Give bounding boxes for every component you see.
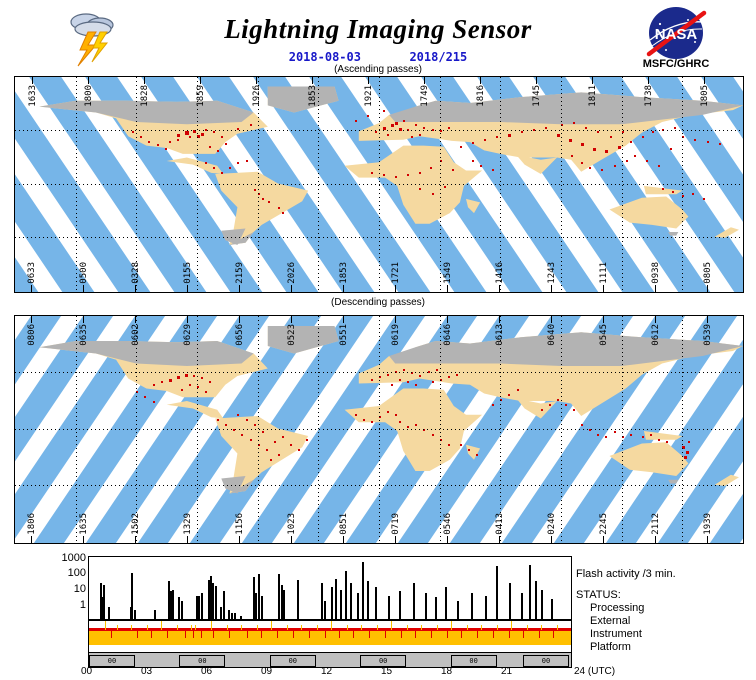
- lightning-flash: [355, 414, 357, 416]
- orbit-tick-top: [256, 77, 257, 84]
- time-axis-tick-06: 06: [201, 666, 212, 677]
- orbit-time-label-top: 1816: [476, 85, 486, 107]
- status-red-tick: [229, 631, 230, 638]
- lightning-flash: [480, 165, 482, 167]
- longitude-gridline: [500, 77, 501, 292]
- lightning-flash: [719, 143, 721, 145]
- lightning-flash: [672, 191, 674, 193]
- agency-caption: MSFC/GHRC: [624, 58, 728, 70]
- status-red-tick: [493, 631, 494, 638]
- y-tick-1: 1: [80, 599, 86, 611]
- orbit-time-label-top: 0523: [287, 324, 297, 346]
- orbit-time-label-bottom: 2245: [599, 513, 609, 535]
- longitude-gridline: [500, 316, 501, 543]
- descending-passes-label: (Descending passes): [0, 297, 756, 308]
- orbit-time-label-bottom: 0328: [131, 262, 141, 284]
- status-red-tick: [201, 631, 202, 638]
- status-yellow-tick: [347, 625, 348, 630]
- flash-activity-bar: [388, 596, 390, 620]
- lightning-flash: [662, 188, 664, 190]
- lightning-flash: [237, 162, 239, 164]
- lightning-flash: [282, 436, 284, 438]
- lightning-flash: [193, 375, 195, 377]
- lightning-flash: [169, 379, 172, 382]
- status-red-tick: [193, 631, 194, 638]
- lightning-flash: [157, 144, 159, 146]
- flash-activity-bar: [103, 585, 105, 619]
- status-red-tick: [461, 631, 462, 638]
- flash-activity-bar: [240, 616, 242, 620]
- flash-activity-bar: [172, 590, 174, 620]
- time-axis-tick-21: 21: [501, 666, 512, 677]
- lightning-flash: [597, 434, 599, 436]
- orbit-tick-top: [83, 316, 84, 323]
- lightning-flash: [367, 115, 369, 117]
- orbit-time-label-top: 1853: [308, 85, 318, 107]
- orbit-time-label-top: 0539: [703, 324, 713, 346]
- lightning-flash: [634, 155, 636, 157]
- orbit-tick-top: [200, 77, 201, 84]
- orbit-tick-bottom: [343, 536, 344, 543]
- lightning-flash: [581, 424, 583, 426]
- lightning-flash: [181, 389, 183, 391]
- flash-activity-bar: [220, 607, 222, 619]
- lightning-flash: [399, 421, 401, 423]
- longitude-gridline: [379, 77, 380, 292]
- lightning-flash: [209, 381, 211, 383]
- lightning-flash: [407, 381, 409, 383]
- orbit-tick-bottom: [291, 536, 292, 543]
- status-yellow-tick: [557, 625, 558, 630]
- lightning-flash: [254, 424, 256, 426]
- lightning-flash: [605, 150, 608, 153]
- status-red-tick: [325, 631, 326, 638]
- status-yellow-tick: [511, 621, 512, 630]
- lightning-flash: [614, 165, 616, 167]
- lightning-flash: [262, 431, 264, 433]
- status-red-tick: [137, 631, 138, 638]
- flash-activity-bar: [198, 596, 200, 619]
- lightning-flash: [201, 377, 203, 379]
- lightning-flash: [246, 160, 248, 162]
- lightning-flash: [177, 134, 180, 137]
- lightning-flash: [415, 124, 417, 126]
- lightning-flash: [399, 379, 401, 381]
- page-header: Lightning Imaging Sensor 2018-08-03 2018…: [0, 0, 756, 76]
- flash-activity-bar: [331, 587, 333, 619]
- lightning-flash: [448, 444, 450, 446]
- lightning-flash: [496, 136, 498, 138]
- status-red-tick: [261, 631, 262, 638]
- lightning-flash: [185, 131, 189, 135]
- orbit-time-label-top: 0640: [547, 324, 557, 346]
- lightning-flash: [642, 436, 644, 438]
- time-axis-tick-09: 09: [261, 666, 272, 677]
- flash-activity-bar: [261, 596, 263, 620]
- lightning-flash: [565, 404, 567, 406]
- status-red-tick: [431, 631, 432, 638]
- status-yellow-tick: [105, 621, 106, 630]
- orbit-time-label-bottom: 1549: [443, 262, 453, 284]
- status-red-tick: [151, 631, 152, 638]
- status-yellow-tick: [361, 625, 362, 630]
- time-x-axis: 0003060912151821: [88, 666, 570, 680]
- flash-activity-bar: [529, 565, 531, 619]
- orbit-time-label-top: 0551: [339, 324, 349, 346]
- lightning-flash: [161, 381, 163, 383]
- orbit-time-label-bottom: 1156: [235, 513, 245, 535]
- lightning-flash: [569, 139, 572, 142]
- flash-activity-bar: [521, 593, 523, 619]
- orbit-tick-bottom: [603, 536, 604, 543]
- lightning-flash: [444, 186, 446, 188]
- orbit-tick-top: [447, 316, 448, 323]
- ascending-passes-map[interactable]: 1633180018281859192618531921174918161745…: [14, 76, 744, 293]
- lightning-flash: [674, 127, 676, 129]
- lightning-flash: [371, 421, 373, 423]
- orbit-tick-top: [88, 77, 89, 84]
- orbit-tick-top: [32, 77, 33, 84]
- status-red-tick: [247, 631, 248, 638]
- lightning-flash: [419, 172, 421, 174]
- lightning-flash: [666, 441, 668, 443]
- orbit-time-label-bottom: 2112: [651, 513, 661, 535]
- lightning-flash: [225, 424, 227, 426]
- lightning-flash: [618, 146, 621, 149]
- lightning-flash: [601, 169, 603, 171]
- lightning-flash: [430, 167, 432, 169]
- lightning-flash: [589, 167, 591, 169]
- lightning-flash: [650, 434, 652, 436]
- orbit-tick-top: [187, 316, 188, 323]
- lightning-flash: [614, 431, 616, 433]
- flash-activity-bar: [297, 580, 299, 619]
- lightning-flash: [298, 449, 300, 451]
- lightning-flash: [597, 131, 599, 133]
- y-tick-10: 10: [74, 583, 86, 595]
- orbit-time-label-bottom: 1939: [703, 513, 713, 535]
- flash-activity-bar: [223, 591, 225, 619]
- status-yellow-tick: [131, 625, 132, 630]
- flash-activity-bar: [201, 593, 203, 619]
- orbit-tick-top: [704, 77, 705, 84]
- status-red-tick: [553, 631, 554, 638]
- orbit-time-label-top: 0806: [27, 324, 37, 346]
- flash-activity-bar: [231, 613, 233, 619]
- lightning-flash: [391, 384, 393, 386]
- lightning-flash: [684, 456, 687, 459]
- lightning-flash: [692, 193, 694, 195]
- orbit-time-label-top: 0629: [183, 324, 193, 346]
- orbit-time-label-bottom: 1329: [183, 513, 193, 535]
- flash-activity-bar: [215, 586, 217, 619]
- orbit-tick-top: [536, 77, 537, 84]
- status-yellow-tick: [177, 625, 178, 630]
- lightning-flash: [557, 399, 559, 401]
- status-red-tick: [523, 631, 524, 638]
- flash-y-axis: 1000 100 10 1: [52, 552, 86, 622]
- orbit-time-label-top: 1749: [420, 85, 430, 107]
- lightning-flash: [391, 124, 394, 127]
- status-yellow-tick: [301, 625, 302, 630]
- orbit-time-label-top: 1805: [700, 85, 710, 107]
- flash-activity-bar: [435, 597, 437, 619]
- status-heading: STATUS:: [576, 589, 676, 602]
- orbit-time-label-bottom: 1243: [547, 262, 557, 284]
- lightning-flash: [177, 139, 179, 141]
- lightning-flash: [205, 162, 207, 164]
- longitude-gridline: [318, 77, 319, 292]
- lightning-flash: [217, 419, 219, 421]
- orbit-tick-top: [424, 77, 425, 84]
- status-row-instrument: Instrument: [576, 628, 676, 641]
- orbit-tick-top: [31, 316, 32, 323]
- utc-axis-label: 24 (UTC): [574, 666, 615, 677]
- lightning-flash: [371, 172, 373, 174]
- orbit-tick-bottom: [135, 536, 136, 543]
- flash-activity-bar: [350, 583, 352, 619]
- flash-activity-chart[interactable]: [88, 556, 572, 620]
- lightning-flash: [646, 160, 648, 162]
- status-yellow-tick: [147, 625, 148, 630]
- orbit-tick-top: [144, 77, 145, 84]
- status-row-platform: Platform: [576, 641, 676, 654]
- lightning-flash: [419, 375, 421, 377]
- lightning-flash: [213, 131, 215, 133]
- orbit-tick-bottom: [187, 536, 188, 543]
- orbit-tick-bottom: [655, 536, 656, 543]
- lightning-flash: [387, 134, 389, 136]
- orbit-tick-bottom: [447, 285, 448, 292]
- lightning-flash: [703, 198, 705, 200]
- status-red-tick: [277, 631, 278, 638]
- flash-activity-bar: [362, 562, 364, 619]
- longitude-gridline: [379, 316, 380, 543]
- status-yellow-tick: [331, 621, 332, 630]
- orbit-tick-top: [603, 316, 604, 323]
- status-red-tick: [539, 631, 540, 638]
- longitude-gridline: [258, 316, 259, 543]
- orbit-tick-top: [551, 316, 552, 323]
- longitude-gridline: [682, 77, 683, 292]
- status-red-tick: [111, 631, 112, 638]
- longitude-gridline: [622, 77, 623, 292]
- lightning-flash: [541, 409, 543, 411]
- status-red-tick: [477, 631, 478, 638]
- flash-activity-legend-label: Flash activity /3 min.: [576, 568, 676, 581]
- orbit-time-label-top: 1828: [140, 85, 150, 107]
- orbit-time-label-top: 1633: [28, 85, 38, 107]
- flash-activity-bar: [154, 610, 156, 620]
- longitude-gridline: [318, 316, 319, 543]
- lightning-flash: [395, 176, 397, 178]
- lightning-flash: [189, 136, 191, 138]
- orbit-tick-bottom: [239, 285, 240, 292]
- orbit-tick-bottom: [603, 285, 604, 292]
- orbit-time-label-top: 1921: [364, 85, 374, 107]
- flash-activity-bar: [367, 581, 369, 619]
- status-yellow-tick: [191, 625, 192, 630]
- lightning-flash: [508, 394, 510, 396]
- status-yellow-tick: [377, 625, 378, 630]
- lightning-flash: [419, 134, 421, 136]
- orbit-tick-bottom: [83, 536, 84, 543]
- flash-activity-bar: [375, 587, 377, 619]
- status-red-tick: [385, 631, 386, 638]
- orbit-tick-top: [655, 316, 656, 323]
- flash-activity-bar: [283, 590, 285, 620]
- status-row-external: External: [576, 615, 676, 628]
- lis-daily-summary-page: Lightning Imaging Sensor 2018-08-03 2018…: [0, 0, 756, 680]
- status-bars-panel[interactable]: [88, 620, 572, 656]
- orbit-time-label-top: 1859: [196, 85, 206, 107]
- orbit-time-label-bottom: 0413: [495, 513, 505, 535]
- orbit-tick-bottom: [655, 285, 656, 292]
- status-yellow-tick: [497, 625, 498, 630]
- status-red-tick: [339, 631, 340, 638]
- flash-activity-bar: [228, 610, 230, 620]
- longitude-gridline: [197, 77, 198, 292]
- orbit-tick-bottom: [395, 536, 396, 543]
- orbit-tick-bottom: [707, 536, 708, 543]
- orbit-time-label-bottom: 1635: [79, 513, 89, 535]
- lightning-flash: [266, 449, 268, 451]
- status-red-tick: [309, 631, 310, 638]
- longitude-gridline: [136, 316, 137, 543]
- orbit-tick-top: [343, 316, 344, 323]
- lightning-flash: [148, 141, 150, 143]
- lightning-flash: [270, 459, 272, 461]
- lightning-flash: [581, 162, 583, 164]
- status-red-tick: [353, 631, 354, 638]
- lightning-flash: [217, 150, 219, 152]
- longitude-gridline: [682, 316, 683, 543]
- orbit-tick-bottom: [395, 285, 396, 292]
- lightning-flash: [492, 169, 494, 171]
- lightning-flash: [432, 381, 434, 383]
- lightning-flash: [573, 122, 575, 124]
- lightning-flash: [423, 127, 425, 129]
- lightning-flash: [476, 454, 478, 456]
- lightning-flash: [169, 141, 171, 143]
- orbit-time-label-top: 1811: [588, 85, 598, 107]
- time-axis-tick-03: 03: [141, 666, 152, 677]
- lightning-flash: [189, 384, 191, 386]
- orbit-tick-bottom: [31, 536, 32, 543]
- orbit-tick-bottom: [239, 536, 240, 543]
- lightning-flash: [213, 167, 215, 169]
- lightning-flash: [375, 131, 377, 133]
- status-yellow-tick: [317, 625, 318, 630]
- flash-activity-bar: [324, 601, 326, 619]
- orbit-time-label-top: 1745: [532, 85, 542, 107]
- orbit-tick-bottom: [707, 285, 708, 292]
- lightning-flash: [278, 454, 280, 456]
- longitude-gridline: [258, 77, 259, 292]
- flash-activity-bar: [457, 601, 459, 619]
- status-yellow-tick: [117, 625, 118, 630]
- lightning-flash: [472, 142, 474, 144]
- flash-activity-bar: [445, 587, 447, 619]
- lightning-flash: [432, 434, 434, 436]
- descending-passes-map[interactable]: 0806063506020629065605230551061906460613…: [14, 315, 744, 544]
- lightning-flash: [387, 374, 389, 376]
- orbit-time-label-bottom: 0546: [443, 513, 453, 535]
- orbit-time-label-bottom: 1023: [287, 513, 297, 535]
- orbit-tick-bottom: [551, 536, 552, 543]
- time-axis-tick-12: 12: [321, 666, 332, 677]
- lightning-flash: [383, 127, 386, 130]
- status-yellow-tick: [541, 625, 542, 630]
- orbit-tick-bottom: [31, 285, 32, 292]
- orbit-time-label-top: 0612: [651, 324, 661, 346]
- status-yellow-tick: [287, 625, 288, 630]
- status-yellow-tick: [211, 621, 212, 630]
- flash-activity-bar: [258, 574, 260, 619]
- lightning-flash: [254, 189, 256, 191]
- orbit-time-label-bottom: 1806: [27, 513, 37, 535]
- lightning-flash: [165, 148, 167, 150]
- flash-activity-bar: [278, 574, 280, 619]
- lightning-flash: [241, 434, 243, 436]
- status-red-tick: [185, 631, 186, 638]
- lightning-flash: [468, 449, 470, 451]
- lightning-flash: [630, 141, 632, 143]
- longitude-gridline: [197, 316, 198, 543]
- lightning-flash: [610, 136, 612, 138]
- orbit-time-label-bottom: 0633: [27, 262, 37, 284]
- orbit-tick-bottom: [343, 285, 344, 292]
- flash-activity-bar: [321, 583, 323, 619]
- lightning-flash: [262, 198, 264, 200]
- orbit-time-label-bottom: 1502: [131, 513, 141, 535]
- status-yellow-tick: [271, 621, 272, 630]
- lightning-flash: [205, 391, 207, 393]
- longitude-gridline: [76, 316, 77, 543]
- lightning-flash: [403, 120, 405, 122]
- time-axis-tick-00: 00: [81, 666, 92, 677]
- lightning-flash: [436, 369, 438, 371]
- lightning-flash: [508, 134, 511, 137]
- lightning-flash: [250, 439, 252, 441]
- orbit-time-label-top: 0635: [79, 324, 89, 346]
- lightning-flash: [688, 441, 690, 443]
- orbit-tick-top: [395, 316, 396, 323]
- status-yellow-tick: [195, 625, 196, 630]
- flash-activity-bar: [485, 596, 487, 620]
- lightning-flash: [472, 160, 474, 162]
- status-red-tick: [293, 631, 294, 638]
- lightning-flash: [432, 193, 434, 195]
- orbit-time-label-top: 0602: [131, 324, 141, 346]
- status-red-tick: [167, 631, 168, 638]
- date-text: 2018-08-03: [289, 50, 361, 64]
- lightning-flash: [278, 207, 280, 209]
- lightning-flash: [383, 110, 385, 112]
- lightning-flash: [484, 139, 486, 141]
- longitude-gridline: [561, 316, 562, 543]
- svg-text:NASA: NASA: [655, 26, 698, 43]
- status-yellow-tick: [437, 625, 438, 630]
- lightning-flash: [274, 441, 276, 443]
- flash-activity-bar: [181, 601, 183, 619]
- orbit-tick-top: [291, 316, 292, 323]
- orbit-tick-top: [592, 77, 593, 84]
- status-red-tick: [447, 631, 448, 638]
- status-yellow-tick: [227, 625, 228, 630]
- flash-activity-bar: [541, 590, 543, 620]
- lightning-flash: [573, 409, 575, 411]
